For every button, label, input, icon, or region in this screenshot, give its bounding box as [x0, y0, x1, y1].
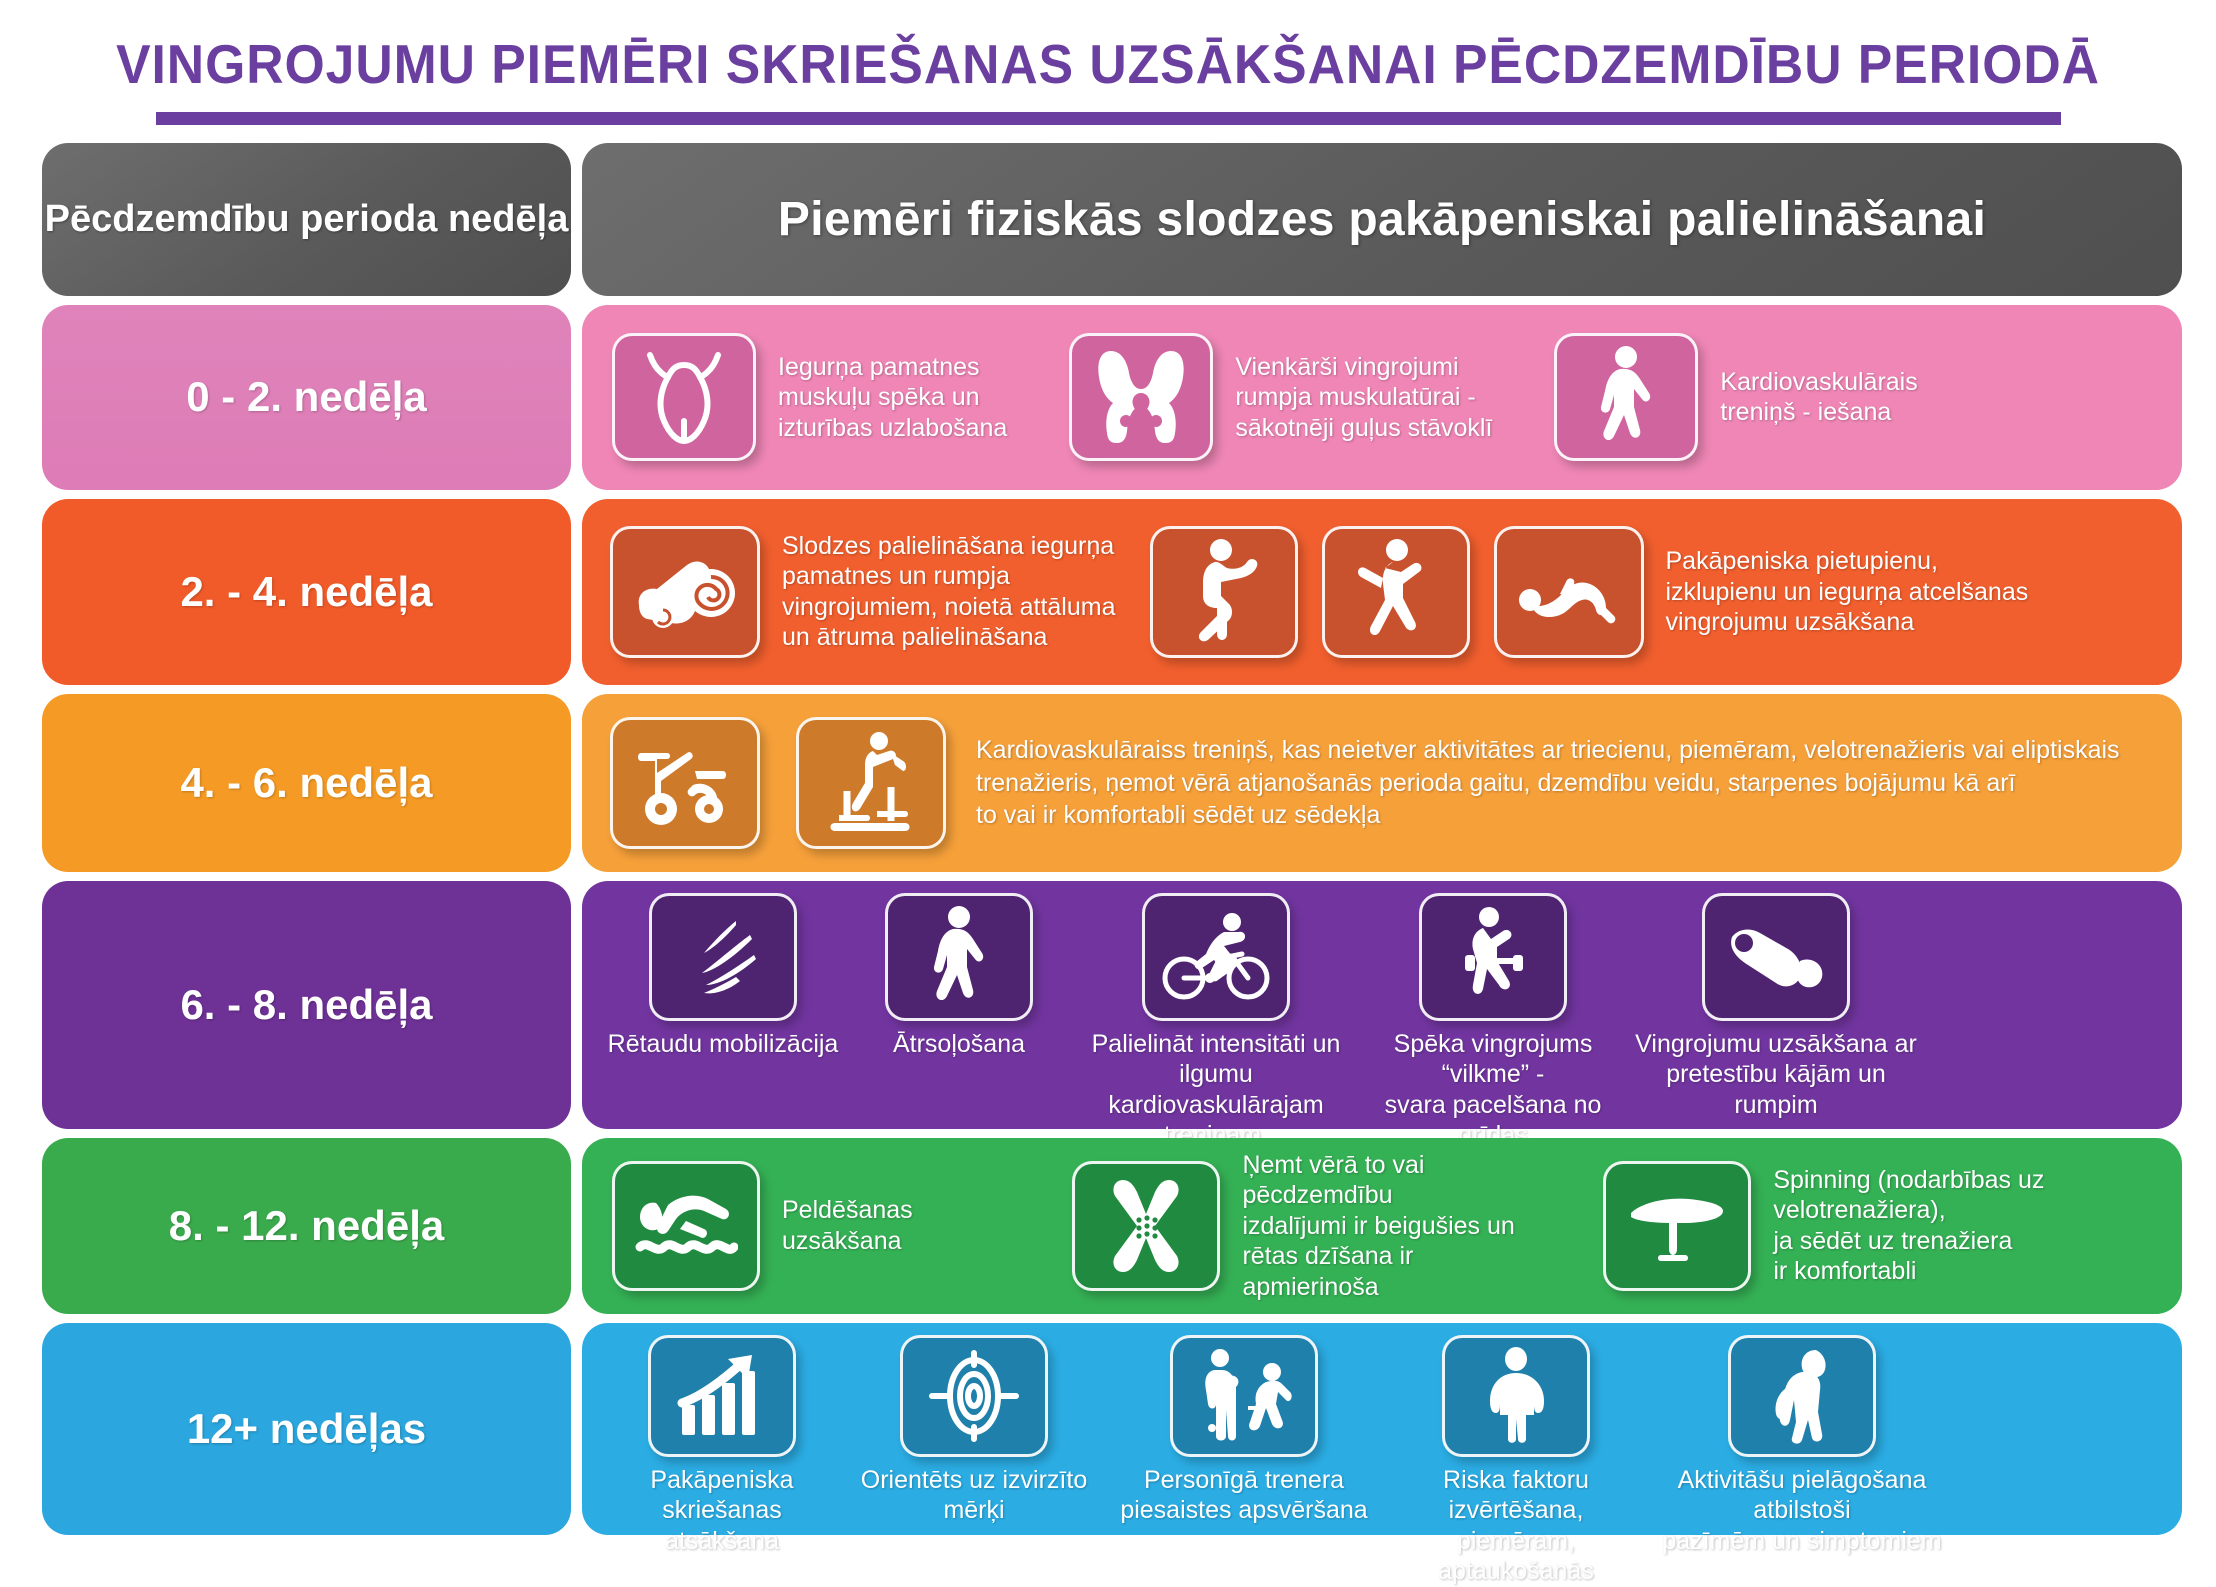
week-label: 12+ nedēļas — [187, 1405, 426, 1453]
pelvic-floor-icon — [612, 333, 756, 461]
list-item — [1322, 526, 1470, 658]
elliptical-trainer-icon — [796, 717, 946, 849]
table-row: 8. - 12. nedēļa Peldēšanas uzs — [42, 1138, 2182, 1314]
table-row: 4. - 6. nedēļa — [42, 694, 2182, 872]
list-item-caption: Pakāpeniska skriešanas atsākšana — [604, 1465, 840, 1557]
list-item-caption: Aktivitāšu pielāgošana atbilstoši pazīmē… — [1652, 1465, 1952, 1557]
pelvic-bridge-icon — [1494, 526, 1644, 658]
list-item: Pakāpeniska pietupienu, izklupienu un ie… — [1494, 526, 2029, 658]
table-row: 0 - 2. nedēļa Iegurņa pamatnes muskuļu s… — [42, 305, 2182, 490]
pelvis-bone-icon — [1069, 333, 1213, 461]
week-label: 2. - 4. nedēļa — [180, 568, 432, 616]
list-item-caption: Ņemt vērā to vai pēcdzemdību izdalījumi … — [1242, 1150, 1547, 1303]
table-header-row: Pēcdzemdību perioda nedēļa Piemēri fizis… — [42, 143, 2182, 296]
infographic-page: VINGROJUMU PIEMĒRI SKRIEŠANAS UZSĀKŠANAI… — [0, 0, 2216, 1568]
growth-chart-icon — [648, 1335, 796, 1457]
list-item-caption: Vingrojumu uzsākšana ar pretestību kājām… — [1630, 1029, 1922, 1121]
walking-person-icon — [1554, 333, 1698, 461]
resistance-band-icon — [1702, 893, 1850, 1021]
week-cell-2-4: 2. - 4. nedēļa — [42, 499, 571, 685]
week-label: 8. - 12. nedēļa — [169, 1202, 444, 1250]
list-item — [610, 717, 760, 849]
list-item: Iegurņa pamatnes muskuļu spēka un izturī… — [612, 333, 1007, 461]
list-item — [1150, 526, 1298, 658]
title-divider — [156, 112, 2061, 125]
list-item-caption: Riska faktoru izvērtēšana, piemēram, apt… — [1380, 1465, 1652, 1587]
header-content-label: Piemēri fiziskās slodzes pakāpeniskai pa… — [582, 192, 2182, 247]
content-cell-4-6: Kardiovaskulāraiss treniņš, kas neietver… — [582, 694, 2182, 872]
list-item: Kardiovaskulāraiss treniņš, kas neietver… — [976, 734, 2120, 832]
week-cell-12plus: 12+ nedēļas — [42, 1323, 571, 1535]
personal-trainer-icon — [1170, 1335, 1318, 1457]
week-label: 4. - 6. nedēļa — [180, 759, 432, 807]
header-content-column: Piemēri fiziskās slodzes pakāpeniskai pa… — [582, 143, 2182, 296]
target-icon — [900, 1335, 1048, 1457]
list-item-caption: Iegurņa pamatnes muskuļu spēka un izturī… — [778, 352, 1007, 444]
bike-saddle-icon — [1603, 1161, 1751, 1291]
list-item-caption: Kardiovaskulāraiss treniņš, kas neietver… — [976, 734, 2120, 832]
list-item: Pakāpeniska skriešanas atsākšana — [604, 1335, 840, 1557]
exercise-mat-icon — [610, 526, 760, 658]
page-title: VINGROJUMU PIEMĒRI SKRIEŠANAS UZSĀKŠANAI… — [66, 36, 2149, 94]
list-item: Aktivitāšu pielāgošana atbilstoši pazīmē… — [1652, 1335, 1952, 1557]
squat-person-icon — [1150, 526, 1298, 658]
list-item-caption: Rētaudu mobilizācija — [608, 1029, 839, 1060]
fatigue-person-icon — [1728, 1335, 1876, 1457]
list-item-caption: Slodzes palielināšana iegurņa pamatnes u… — [782, 531, 1116, 653]
content-cell-8-12: Peldēšanas uzsākšana — [582, 1138, 2182, 1314]
content-cell-6-8: Rētaudu mobilizācija Ātrsoļošana — [582, 881, 2182, 1129]
list-item: Slodzes palielināšana iegurņa pamatnes u… — [610, 526, 1116, 658]
list-item-caption: Spēka vingrojums “vilkme” - svara pacelš… — [1356, 1029, 1630, 1151]
list-item: Orientēts uz izvirzīto mērķi — [840, 1335, 1108, 1526]
lunge-person-icon — [1322, 526, 1470, 658]
list-item-caption: Kardiovaskulārais treniņš - iešana — [1720, 367, 1917, 428]
brisk-walking-icon — [885, 893, 1033, 1021]
list-item: Peldēšanas uzsākšana — [612, 1161, 1010, 1291]
list-item-caption: Peldēšanas uzsākšana — [782, 1195, 1010, 1256]
week-cell-4-6: 4. - 6. nedēļa — [42, 694, 571, 872]
header-week-label: Pēcdzemdību perioda nedēļa — [45, 196, 569, 242]
scar-tissue-icon — [649, 893, 797, 1021]
header-week-column: Pēcdzemdību perioda nedēļa — [42, 143, 571, 296]
obesity-person-icon — [1442, 1335, 1590, 1457]
list-item-caption: Vienkārši vingrojumi rumpja muskulatūrai… — [1235, 352, 1492, 444]
week-cell-0-2: 0 - 2. nedēļa — [42, 305, 571, 490]
list-item: Rētaudu mobilizācija — [604, 893, 842, 1060]
list-item: Vingrojumu uzsākšana ar pretestību kājām… — [1630, 893, 1922, 1121]
list-item: Kardiovaskulārais treniņš - iešana — [1554, 333, 1917, 461]
table-row: 2. - 4. nedēļa — [42, 499, 2182, 685]
list-item: Ņemt vērā to vai pēcdzemdību izdalījumi … — [1072, 1150, 1547, 1303]
schedule-grid: Pēcdzemdību perioda nedēļa Piemēri fizis… — [0, 143, 2216, 1535]
stationary-bike-icon — [610, 717, 760, 849]
week-label: 6. - 8. nedēļa — [180, 981, 432, 1029]
list-item-caption: Orientēts uz izvirzīto mērķi — [840, 1465, 1108, 1526]
week-cell-8-12: 8. - 12. nedēļa — [42, 1138, 571, 1314]
deadlift-icon — [1419, 893, 1567, 1021]
list-item: Ātrsoļošana — [842, 893, 1076, 1060]
week-cell-6-8: 6. - 8. nedēļa — [42, 881, 571, 1129]
list-item-caption: Pakāpeniska pietupienu, izklupienu un ie… — [1666, 546, 2029, 638]
bandage-icon — [1072, 1161, 1220, 1291]
list-item-caption: Personīgā trenera piesaistes apsvēršana — [1120, 1465, 1367, 1526]
list-item: Spēka vingrojums “vilkme” - svara pacelš… — [1356, 893, 1630, 1151]
week-label: 0 - 2. nedēļa — [186, 373, 426, 421]
list-item: Riska faktoru izvērtēšana, piemēram, apt… — [1380, 1335, 1652, 1587]
content-cell-0-2: Iegurņa pamatnes muskuļu spēka un izturī… — [582, 305, 2182, 490]
table-row: 12+ nedēļas — [42, 1323, 2182, 1535]
title-block: VINGROJUMU PIEMĒRI SKRIEŠANAS UZSĀKŠANAI… — [0, 0, 2216, 125]
cyclist-icon — [1142, 893, 1290, 1021]
list-item-caption: Spinning (nodarbības uz velotrenažiera),… — [1773, 1165, 2182, 1287]
swimming-icon — [612, 1161, 760, 1291]
list-item — [796, 717, 946, 849]
content-cell-12plus: Pakāpeniska skriešanas atsākšana Orientē… — [582, 1323, 2182, 1535]
list-item-caption: Ātrsoļošana — [893, 1029, 1025, 1060]
list-item: Spinning (nodarbības uz velotrenažiera),… — [1603, 1161, 2182, 1291]
content-cell-2-4: Slodzes palielināšana iegurņa pamatnes u… — [582, 499, 2182, 685]
table-row: 6. - 8. nedēļa Rētaudu mobiliz — [42, 881, 2182, 1129]
list-item: Personīgā trenera piesaistes apsvēršana — [1108, 1335, 1380, 1526]
list-item: Vienkārši vingrojumi rumpja muskulatūrai… — [1069, 333, 1492, 461]
